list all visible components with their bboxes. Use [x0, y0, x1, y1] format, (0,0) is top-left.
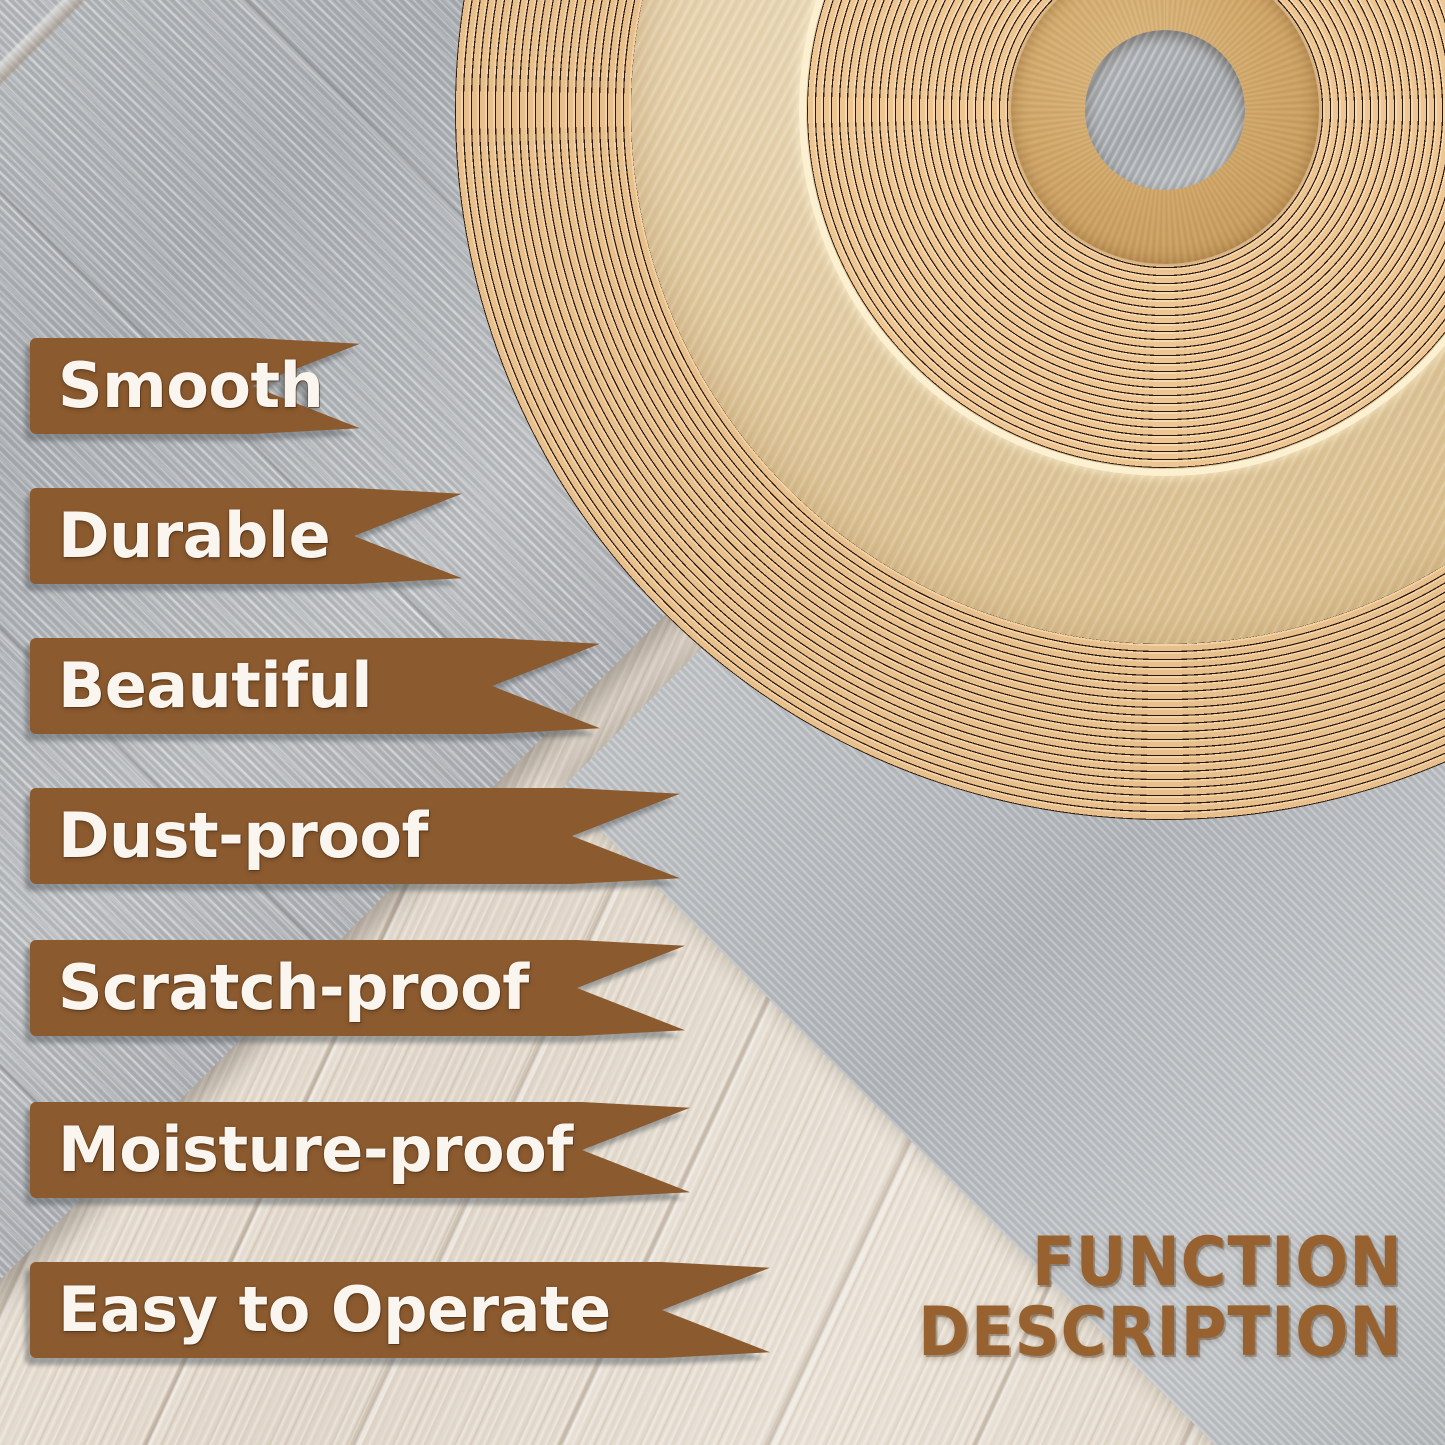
heading-line-2: DESCRIPTION: [918, 1298, 1403, 1367]
feature-label: Moisture-proof: [30, 1119, 573, 1181]
product-feature-infographic: Smooth Durable Beautiful Dust-proof Scra…: [0, 0, 1445, 1445]
feature-banner-beautiful[interactable]: Beautiful: [30, 638, 600, 734]
function-description-heading: FUNCTION DESCRIPTION: [918, 1228, 1403, 1367]
heading-line-1: FUNCTION: [1032, 1223, 1403, 1302]
feature-banner-dust-proof[interactable]: Dust-proof: [30, 788, 680, 884]
feature-banner-scratch-proof[interactable]: Scratch-proof: [30, 940, 685, 1036]
feature-label: Smooth: [30, 355, 323, 417]
feature-label: Dust-proof: [30, 805, 428, 867]
feature-label: Durable: [30, 505, 330, 567]
feature-label: Easy to Operate: [30, 1279, 611, 1341]
feature-banner-smooth[interactable]: Smooth: [30, 338, 360, 434]
feature-banner-easy-to-operate[interactable]: Easy to Operate: [30, 1262, 770, 1358]
feature-banner-moisture-proof[interactable]: Moisture-proof: [30, 1102, 690, 1198]
feature-label: Scratch-proof: [30, 957, 529, 1019]
feature-label: Beautiful: [30, 655, 372, 717]
feature-banner-durable[interactable]: Durable: [30, 488, 462, 584]
